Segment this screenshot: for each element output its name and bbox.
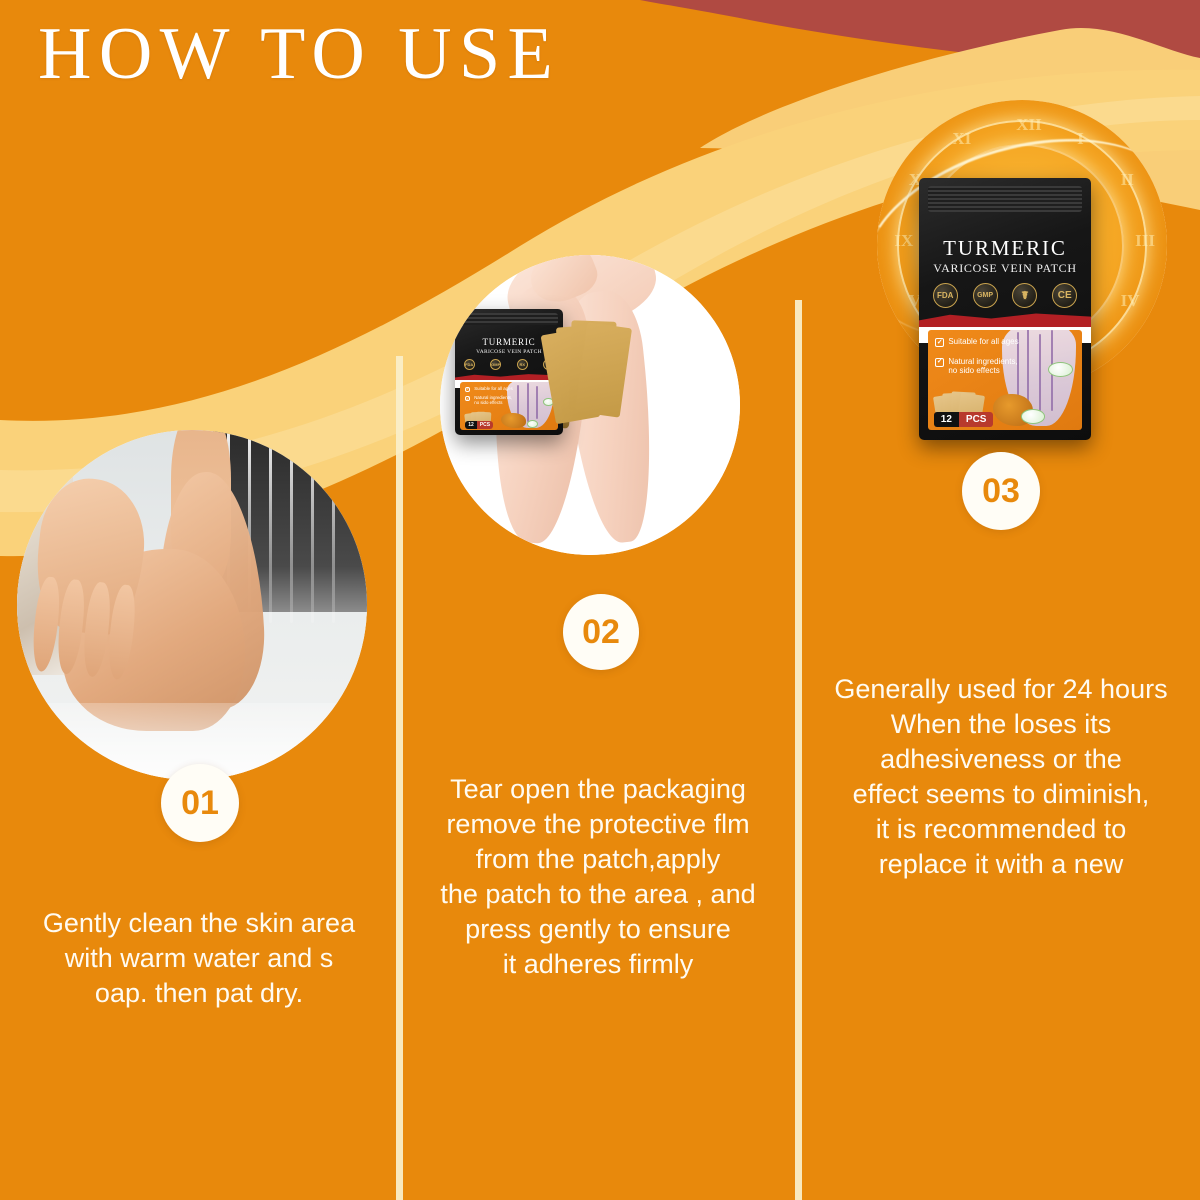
- package-feature-2: ✓ Natural ingredients, no sido effects: [465, 396, 512, 406]
- package-feature-1: ✓ Suitable for all ages: [465, 387, 513, 392]
- package-count: 12: [465, 421, 477, 429]
- package-zip-seal: [928, 186, 1083, 212]
- package-feature-2-text: Natural ingredients, no sido effects: [948, 358, 1017, 376]
- package-photo-area: ✓ Suitable for all ages ✓ Natural ingred…: [928, 330, 1083, 430]
- package-photo-area: ✓ Suitable for all ages ✓ Natural ingred…: [460, 382, 557, 430]
- package-count: 12: [934, 412, 959, 427]
- step-3-number-badge: 03: [962, 452, 1040, 530]
- package-zip-seal: [460, 313, 557, 326]
- package-feature-1-text: Suitable for all ages: [474, 387, 513, 392]
- water-stream: [332, 430, 335, 623]
- leaf-badge-icon: [1021, 409, 1046, 424]
- step-1-caption: Gently clean the skin area with warm wat…: [6, 906, 392, 1011]
- caduceus-badge-icon: RX: [517, 359, 528, 370]
- water-stream: [269, 430, 272, 623]
- package-cert-badges: FDA GMP ☤ CE: [933, 283, 1078, 308]
- package-product-name: VARICOSE VEIN PATCH: [919, 261, 1091, 276]
- package-brand: TURMERIC: [919, 236, 1091, 261]
- package-feature-1: ✓ Suitable for all ages: [935, 338, 1018, 347]
- column-divider-2: [795, 300, 802, 1200]
- water-stream: [311, 430, 314, 623]
- gmp-badge-icon: GMP: [973, 283, 998, 308]
- gmp-badge-icon: GMP: [490, 359, 501, 370]
- step-3-caption: Generally used for 24 hours When the los…: [806, 672, 1196, 883]
- package-count-row: 12 PCS: [934, 412, 994, 427]
- vein-line: [527, 383, 529, 422]
- clock-numeral: IV: [1121, 291, 1140, 311]
- vein-line: [1039, 334, 1041, 411]
- step-2-photo: TURMERIC VARICOSE VEIN PATCH FDA GMP RX …: [440, 255, 740, 555]
- patch-fan: [548, 321, 626, 423]
- clock-numeral: I: [1077, 129, 1084, 149]
- legs-scene: TURMERIC VARICOSE VEIN PATCH FDA GMP RX …: [440, 255, 740, 555]
- step-2-caption: Tear open the packaging remove the prote…: [406, 772, 790, 983]
- clock-numeral: III: [1135, 231, 1155, 251]
- clock-numeral: XI: [952, 129, 971, 149]
- package-feature-2-text: Natural ingredients, no sido effects: [474, 396, 512, 406]
- package-count-unit: PCS: [477, 421, 493, 429]
- check-icon: ✓: [465, 387, 470, 392]
- package-count-row: 12 PCS: [465, 421, 493, 429]
- page-title: HOW TO USE: [38, 12, 560, 97]
- clock-numeral: II: [1121, 170, 1134, 190]
- how-to-use-infographic: HOW TO USE 01 Gently clean the skin: [0, 0, 1200, 1200]
- clock-numeral: XII: [1016, 115, 1042, 135]
- turmeric-root-illustration: [501, 413, 526, 428]
- shower-scene: [17, 430, 367, 780]
- clock-numeral: IX: [894, 231, 913, 251]
- package-cert-badges: FDA GMP RX CE: [464, 359, 555, 370]
- package-count-unit: PCS: [959, 412, 994, 427]
- check-icon: ✓: [465, 396, 470, 401]
- leaf-badge-icon: [1048, 362, 1073, 377]
- caduceus-badge-icon: ☤: [1012, 283, 1037, 308]
- fda-badge-icon: FDA: [933, 283, 958, 308]
- step-2-number-badge: 02: [563, 594, 639, 670]
- step-1-photo: [17, 430, 367, 780]
- package-feature-2: ✓ Natural ingredients, no sido effects: [935, 358, 1017, 376]
- step-1-number-badge: 01: [161, 764, 239, 842]
- product-package-large: TURMERIC VARICOSE VEIN PATCH FDA GMP ☤ C…: [919, 178, 1091, 440]
- check-icon: ✓: [935, 338, 944, 347]
- fda-badge-icon: FDA: [464, 359, 475, 370]
- package-feature-1-text: Suitable for all ages: [948, 338, 1018, 347]
- check-icon: ✓: [935, 358, 944, 367]
- vein-line: [536, 386, 538, 419]
- ce-badge-icon: CE: [1052, 283, 1077, 308]
- water-stream: [290, 430, 293, 623]
- column-divider-1: [396, 356, 403, 1200]
